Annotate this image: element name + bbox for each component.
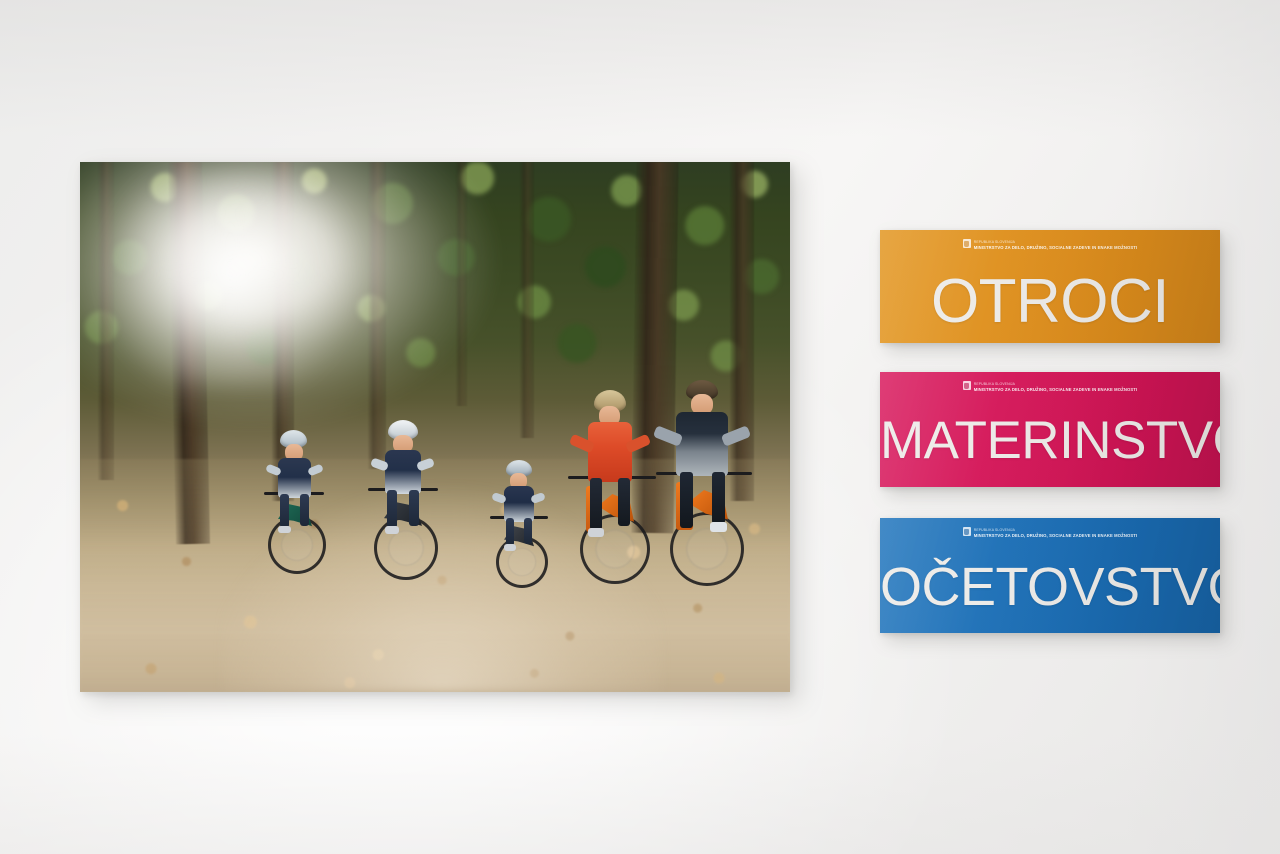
ministry-logo: REPUBLIKA SLOVENIJA MINISTRSTVO ZA DELO,… bbox=[880, 527, 1220, 538]
leg bbox=[618, 478, 630, 526]
bicycle-wheel bbox=[268, 516, 326, 574]
torso-jacket bbox=[504, 486, 534, 522]
leg bbox=[524, 518, 532, 544]
torso-jacket bbox=[385, 450, 421, 494]
leg bbox=[590, 478, 602, 530]
ministry-logo-line1: REPUBLIKA SLOVENIJA bbox=[974, 240, 1138, 244]
bicycle-wheel bbox=[374, 516, 438, 580]
shoe bbox=[710, 522, 727, 532]
coat-of-arms-icon bbox=[963, 381, 971, 390]
torso-jacket-red bbox=[588, 422, 632, 482]
family-cycling-forest-photo bbox=[80, 162, 790, 692]
leg bbox=[680, 472, 693, 528]
ministry-logo-line2: MINISTRSTVO ZA DELO, DRUŽINO, SOCIALNE Z… bbox=[974, 388, 1138, 393]
ministry-logo-line2: MINISTRSTVO ZA DELO, DRUŽINO, SOCIALNE Z… bbox=[974, 534, 1138, 539]
leg bbox=[300, 494, 309, 526]
bicycle-wheel bbox=[496, 536, 548, 588]
shoe bbox=[278, 526, 291, 533]
leg bbox=[387, 490, 397, 528]
ministry-logo-line1: REPUBLIKA SLOVENIJA bbox=[974, 528, 1138, 532]
shoe bbox=[588, 528, 604, 537]
torso-jacket-dark bbox=[676, 412, 728, 476]
ministry-logo-line1: REPUBLIKA SLOVENIJA bbox=[974, 382, 1138, 386]
sun-flare-core bbox=[94, 173, 378, 385]
sign-label-otroci: OTROCI bbox=[880, 266, 1220, 337]
wall-scene: REPUBLIKA SLOVENIJA MINISTRSTVO ZA DELO,… bbox=[0, 0, 1280, 854]
ministry-logo: REPUBLIKA SLOVENIJA MINISTRSTVO ZA DELO,… bbox=[880, 381, 1220, 392]
coat-of-arms-icon bbox=[963, 239, 971, 248]
sign-ocetovstvo[interactable]: REPUBLIKA SLOVENIJA MINISTRSTVO ZA DELO,… bbox=[880, 518, 1220, 633]
shoe bbox=[385, 526, 399, 534]
sign-label-ocetovstvo: OČETOVSTVO bbox=[880, 556, 1220, 618]
cyclist-child-left bbox=[256, 430, 342, 590]
ministry-logo-line2: MINISTRSTVO ZA DELO, DRUŽINO, SOCIALNE Z… bbox=[974, 246, 1138, 251]
leg bbox=[506, 518, 514, 546]
shoe bbox=[504, 544, 516, 551]
leg bbox=[280, 494, 289, 528]
sign-materinstvo[interactable]: REPUBLIKA SLOVENIJA MINISTRSTVO ZA DELO,… bbox=[880, 372, 1220, 487]
leg bbox=[409, 490, 419, 526]
photo-content bbox=[80, 162, 790, 692]
ministry-logo-text: REPUBLIKA SLOVENIJA MINISTRSTVO ZA DELO,… bbox=[974, 527, 1138, 538]
cyclist-man bbox=[650, 380, 760, 612]
sign-label-materinstvo: MATERINSTVO bbox=[880, 410, 1220, 471]
leg bbox=[712, 472, 725, 524]
ministry-logo: REPUBLIKA SLOVENIJA MINISTRSTVO ZA DELO,… bbox=[880, 239, 1220, 250]
coat-of-arms-icon bbox=[963, 527, 971, 536]
torso-jacket bbox=[278, 458, 311, 498]
ministry-logo-text: REPUBLIKA SLOVENIJA MINISTRSTVO ZA DELO,… bbox=[974, 239, 1138, 250]
ministry-logo-text: REPUBLIKA SLOVENIJA MINISTRSTVO ZA DELO,… bbox=[974, 381, 1138, 392]
sign-otroci[interactable]: REPUBLIKA SLOVENIJA MINISTRSTVO ZA DELO,… bbox=[880, 230, 1220, 343]
cyclist-child-small bbox=[484, 460, 564, 608]
